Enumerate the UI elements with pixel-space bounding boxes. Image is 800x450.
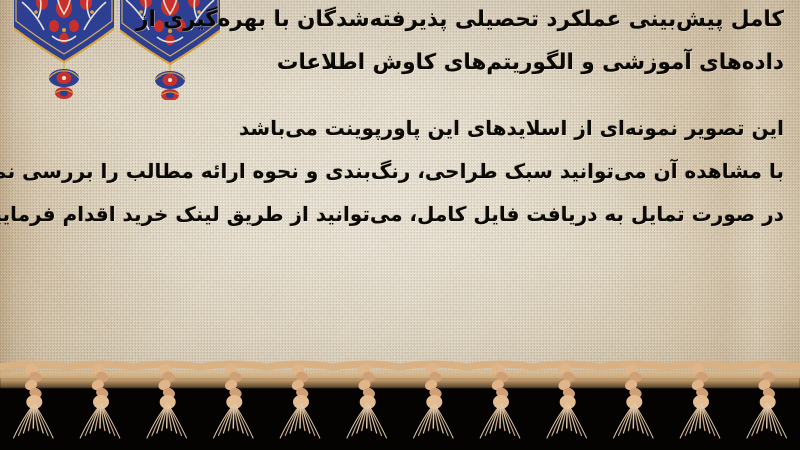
body-line-3: در صورت تمایل به دریافت فایل کامل، می‌تو… xyxy=(0,202,784,226)
slide-text-block: کامل پیش‌بینی عملکرد تحصیلی پذیرفته‌شدگا… xyxy=(0,0,800,392)
carpet-tassel-fringe-icon xyxy=(0,360,800,450)
body-line-2: با مشاهده آن می‌توانید سبک طراحی، رنگ‌بن… xyxy=(0,159,784,183)
slide-canvas: کامل پیش‌بینی عملکرد تحصیلی پذیرفته‌شدگا… xyxy=(0,0,800,450)
title-line-2: داده‌های آموزشی و الگوریتم‌های کاوش اطلا… xyxy=(277,50,784,75)
body-line-1: این تصویر نمونه‌ای از اسلایدهای این پاور… xyxy=(239,116,784,140)
title-line-1: کامل پیش‌بینی عملکرد تحصیلی پذیرفته‌شدگا… xyxy=(136,7,784,32)
